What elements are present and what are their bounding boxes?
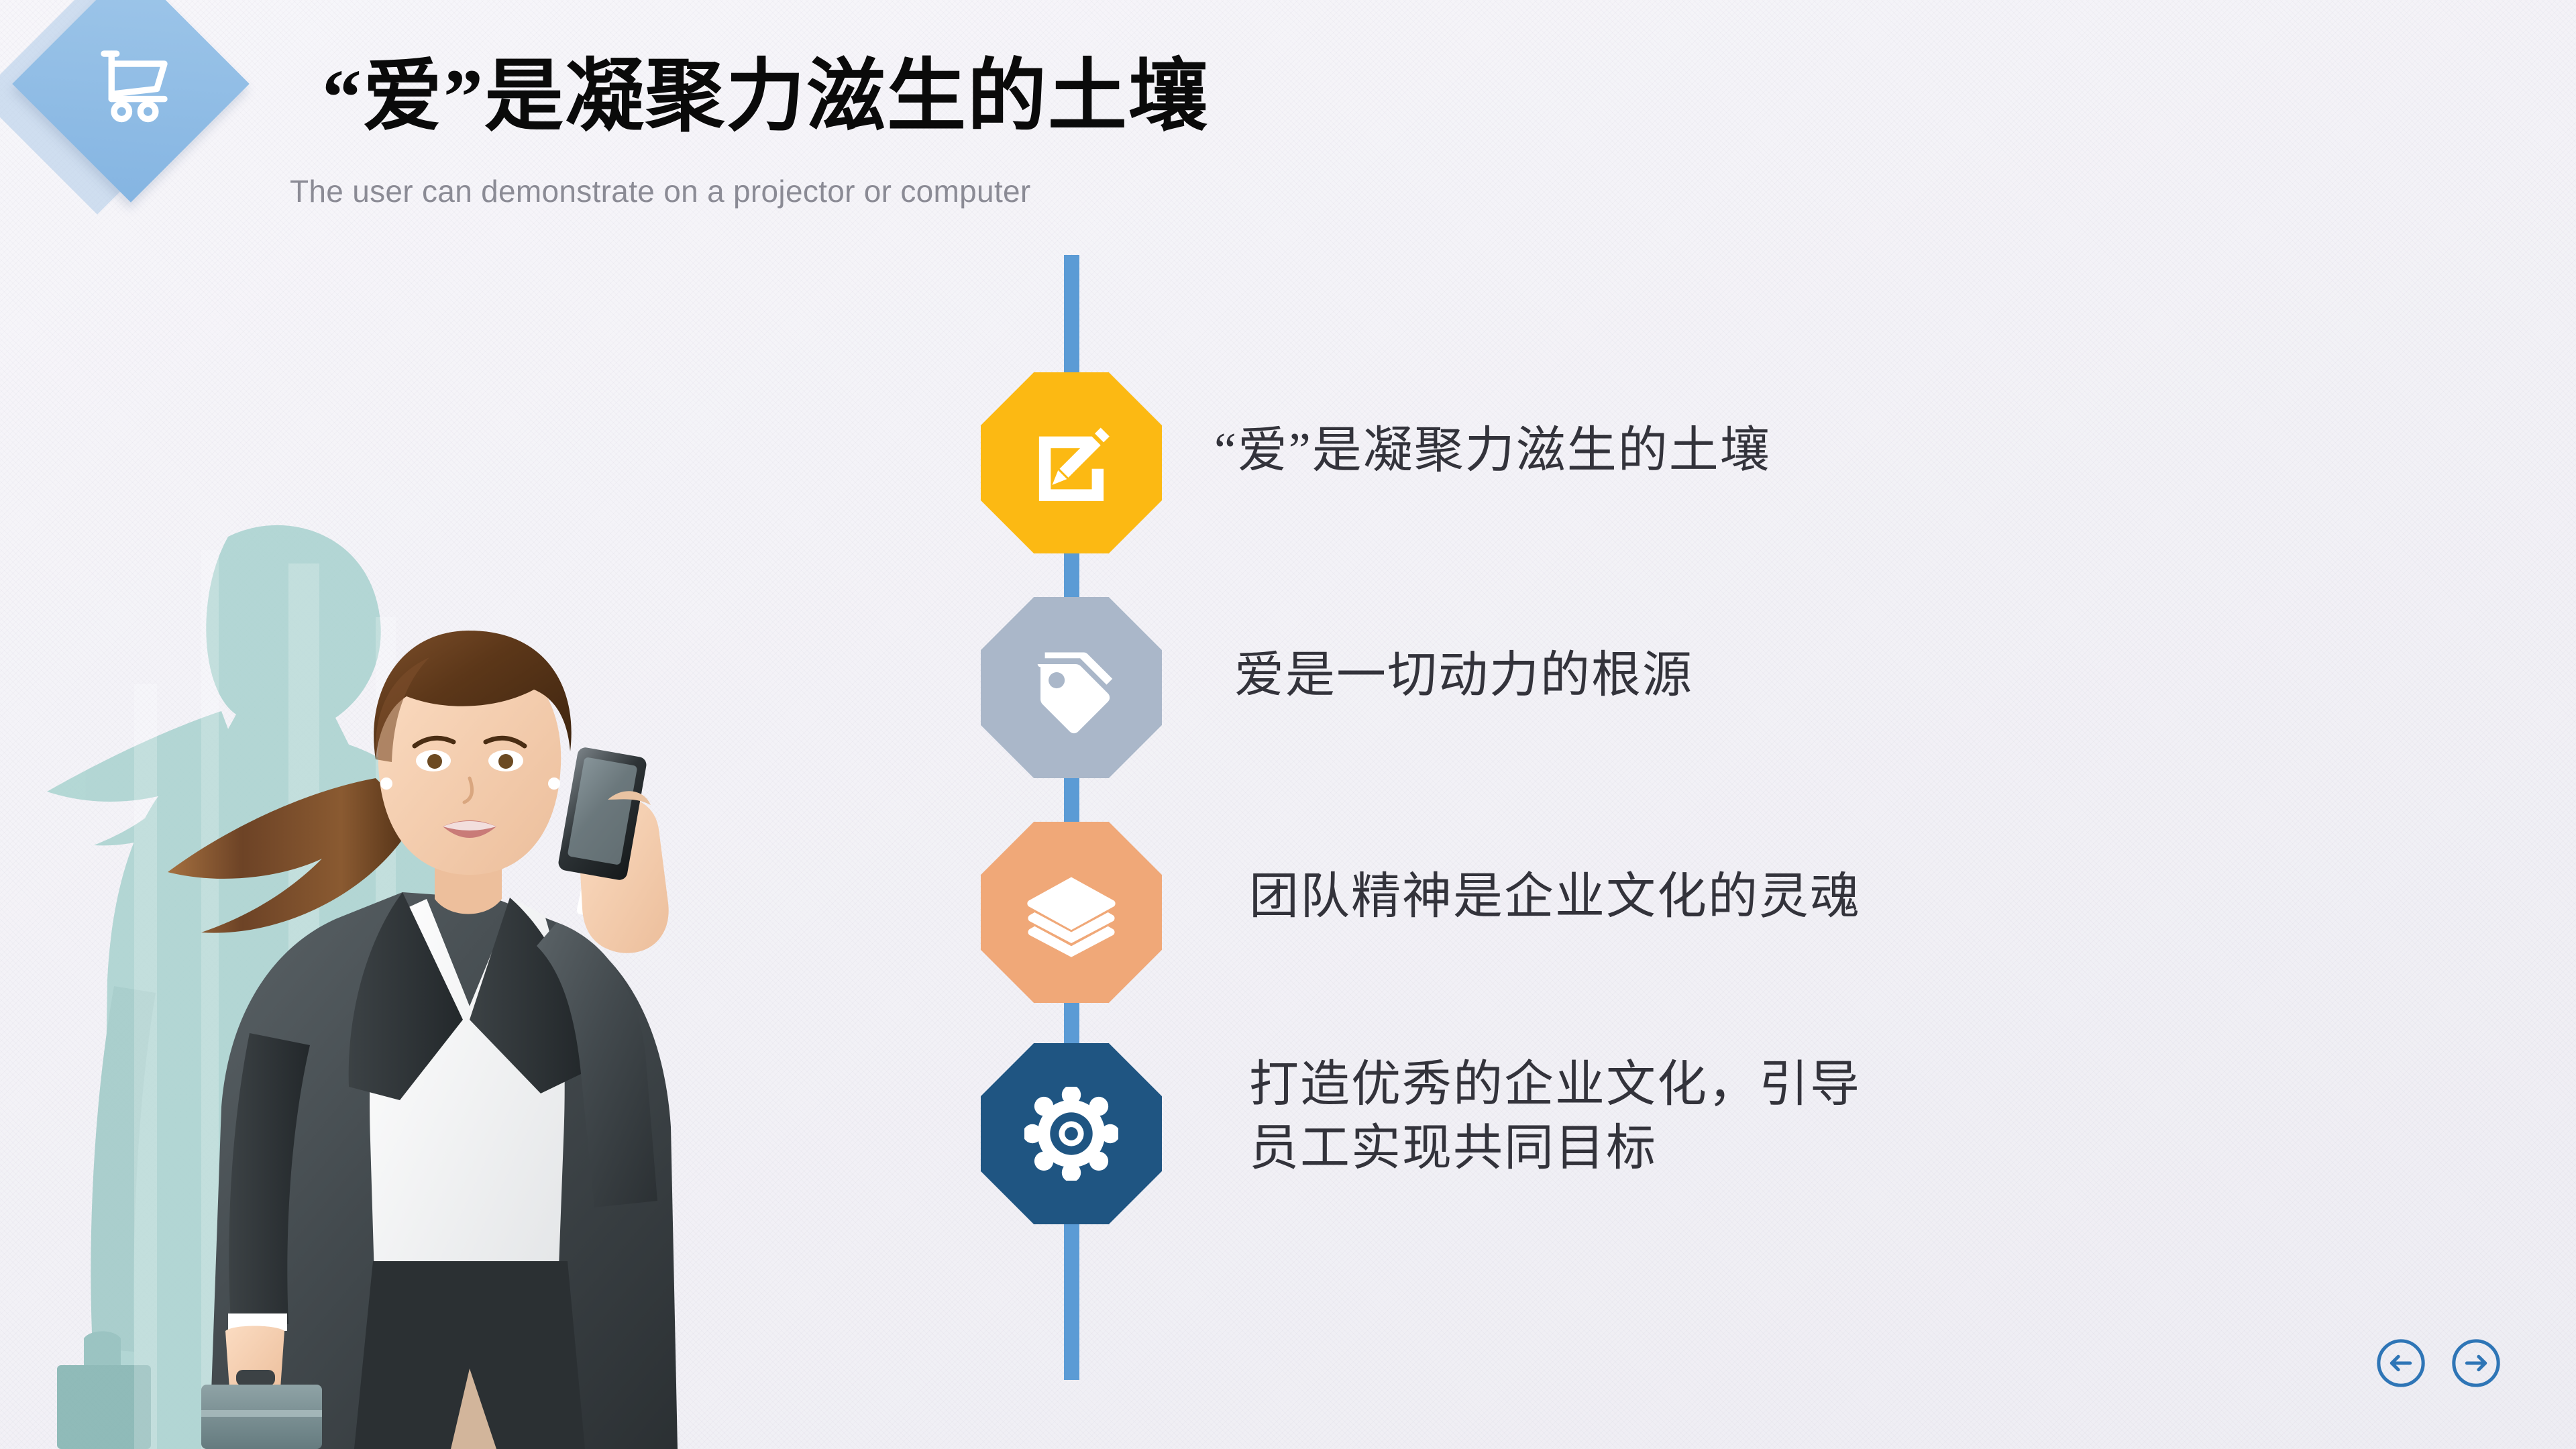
left-earring	[380, 777, 392, 790]
page-title: “爱”是凝聚力滋生的土壤	[322, 50, 1209, 144]
businesswoman-illustration	[0, 429, 771, 1449]
page-subtitle: The user can demonstrate on a projector …	[290, 173, 1031, 209]
layers-icon	[1024, 865, 1118, 959]
timeline-item-text-3: 打造优秀的企业文化，引导 员工实现共同目标	[1249, 1053, 1861, 1180]
arrow-right-circle-icon[interactable]	[2450, 1337, 2502, 1389]
timeline-item-text-2: 团队精神是企业文化的灵魂	[1249, 865, 1861, 929]
timeline-node-edit[interactable]	[981, 372, 1162, 553]
right-earring	[548, 777, 560, 790]
shopping-cart-icon	[94, 44, 174, 124]
timeline-node-tag[interactable]	[981, 597, 1162, 778]
edit-note-icon	[1024, 416, 1118, 510]
tag-icon	[1024, 641, 1118, 735]
timeline-node-gear[interactable]	[981, 1043, 1162, 1224]
briefcase-handle	[236, 1370, 275, 1386]
timeline-item-text-1: 爱是一切动力的根源	[1234, 644, 1693, 708]
gear-icon	[1024, 1087, 1118, 1181]
arrow-left-circle-icon[interactable]	[2375, 1337, 2427, 1389]
slide-navigation	[2375, 1337, 2502, 1389]
brand-badge	[0, 0, 268, 235]
timeline-item-text-0: “爱”是凝聚力滋生的土壤	[1214, 419, 1771, 483]
timeline-node-layers[interactable]	[981, 822, 1162, 1003]
slide-canvas: “爱”是凝聚力滋生的土壤 The user can demonstrate on…	[0, 0, 2576, 1449]
